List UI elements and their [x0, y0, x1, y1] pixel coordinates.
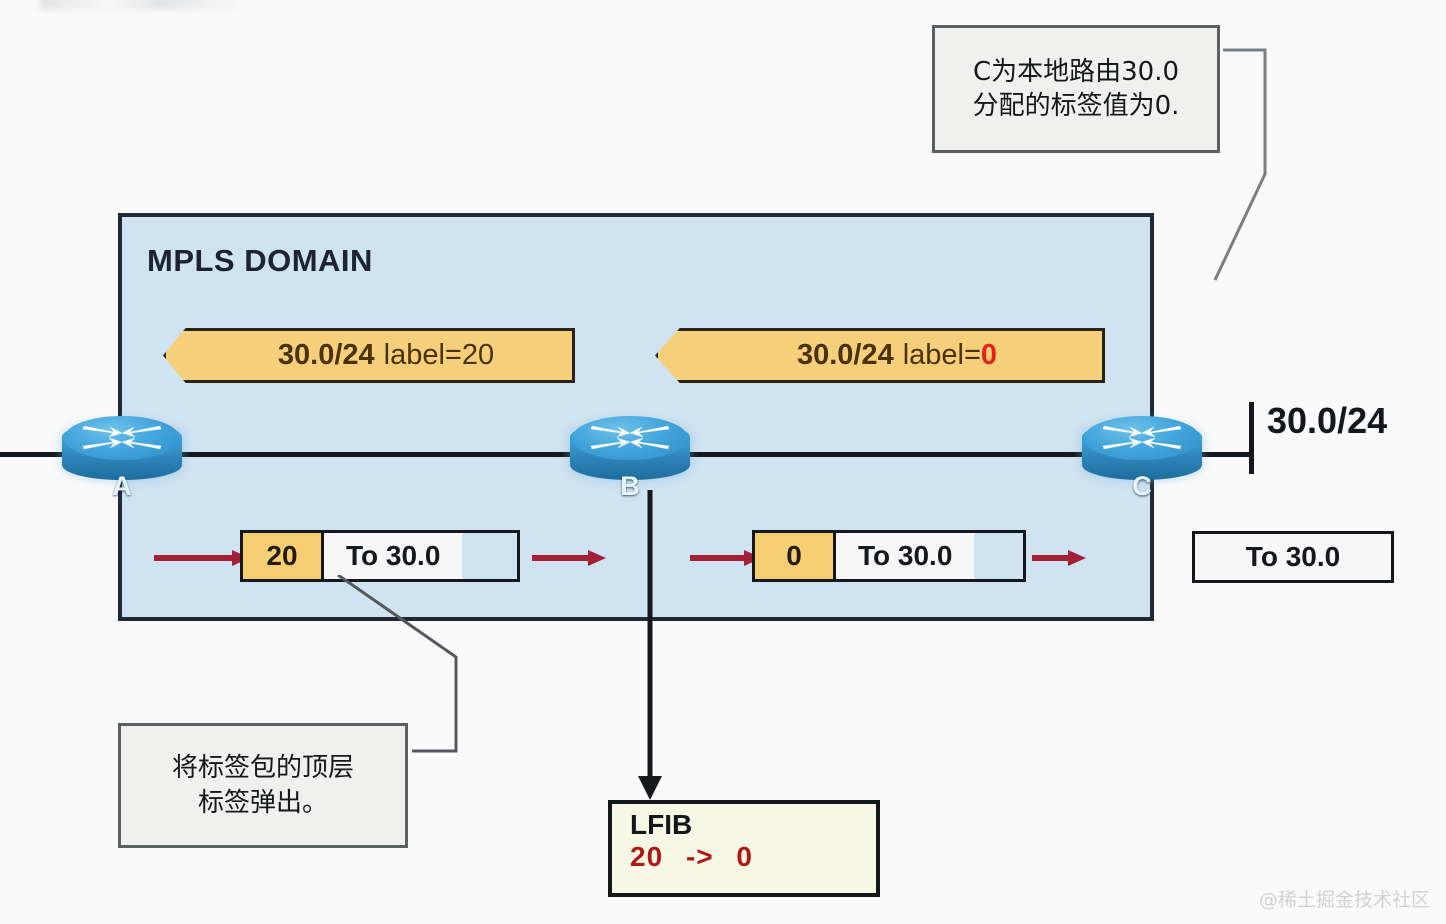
label-banner-value: label=0 [903, 339, 997, 372]
flow-arrow-out-of-packet-2 [1032, 548, 1086, 568]
callout-pop-label: 将标签包的顶层 标签弹出。 [118, 723, 408, 848]
callout-line-1: C为本地路由30.0 [973, 55, 1180, 89]
lfib-entry-row: 20 -> 0 [630, 840, 876, 873]
link-router-b-to-router-c [688, 452, 1086, 457]
label-banner-network: 30.0/24 [797, 339, 894, 372]
lan-prefix-label: 30.0/24 [1267, 400, 1387, 442]
router-b[interactable]: B [570, 414, 690, 490]
lfib-title: LFIB [630, 810, 876, 840]
watermark: @稀土掘金技术社区 [1259, 885, 1430, 912]
top-edge-artifact [40, 0, 240, 10]
packet-payload: To 30.0 [324, 533, 462, 579]
label-banner-value: label=20 [384, 339, 494, 372]
packet-unlabeled: To 30.0 [1192, 531, 1394, 583]
label-banner-network: 30.0/24 [278, 339, 375, 372]
router-arrows-icon [76, 418, 168, 458]
lfib-box: LFIB 20 -> 0 [608, 800, 880, 897]
lfib-in-label: 20 [630, 841, 663, 872]
callout-line-2: 标签弹出。 [172, 786, 354, 820]
flow-arrow-into-packet-1 [154, 548, 250, 568]
router-c-label: C [1082, 471, 1202, 502]
router-arrows-icon [584, 418, 676, 458]
lfib-out-label: 0 [736, 841, 753, 872]
router-a-label: A [62, 471, 182, 502]
packet-payload: To 30.0 [836, 533, 974, 579]
router-c[interactable]: C [1082, 414, 1202, 490]
lan-segment-bar [1249, 402, 1254, 474]
label-banner-a-to-b: 30.0/24 label=20 [163, 328, 575, 383]
packet-label-tag: 0 [755, 533, 836, 579]
callout-line-1: 将标签包的顶层 [172, 751, 354, 785]
diagram-canvas: MPLS DOMAIN 30.0/24 A [0, 0, 1446, 924]
packet-labeled-0: 0 To 30.0 [752, 530, 1026, 582]
router-a[interactable]: A [62, 414, 182, 490]
link-router-a-to-router-b [172, 452, 576, 457]
callout-label-assignment: C为本地路由30.0 分配的标签值为0. [932, 25, 1220, 153]
lfib-arrow: -> [686, 841, 714, 872]
flow-arrow-out-of-packet-1 [532, 548, 606, 568]
router-arrows-icon [1096, 418, 1188, 458]
packet-label-tag: 20 [243, 533, 324, 579]
label-banner-b-to-c: 30.0/24 label=0 [655, 328, 1105, 383]
callout-line-2: 分配的标签值为0. [973, 89, 1180, 123]
link-router-c-to-lan [1196, 452, 1252, 457]
mpls-domain-title: MPLS DOMAIN [147, 243, 373, 279]
arrow-router-b-to-lfib [630, 490, 670, 802]
